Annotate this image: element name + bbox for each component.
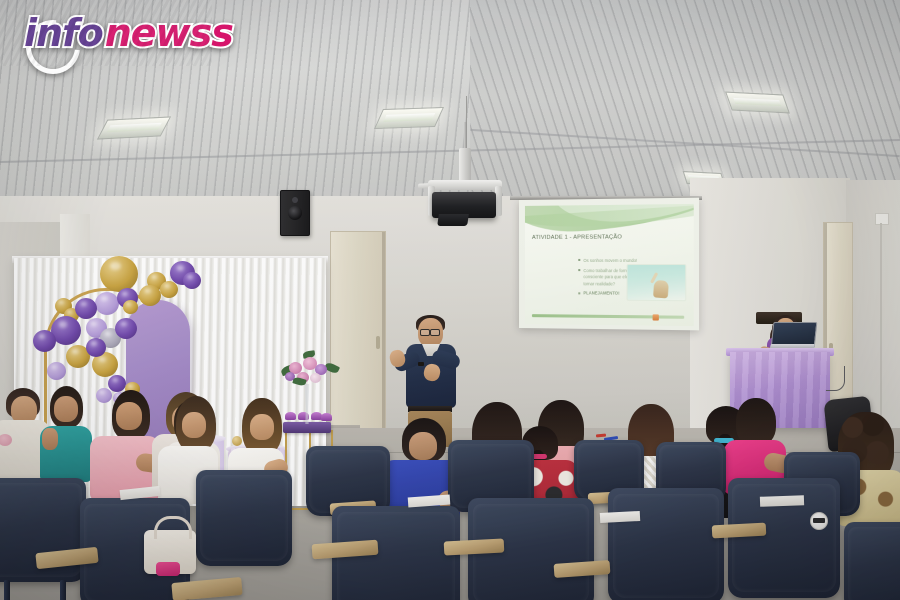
balloon-purple	[33, 330, 56, 352]
head	[409, 432, 437, 460]
chair-post	[60, 580, 66, 600]
projector-bracket-arm-right	[495, 186, 502, 216]
handbag-strap	[154, 516, 192, 539]
balloon-gold	[160, 281, 178, 298]
conduit-pipe	[880, 223, 882, 423]
lecture-chair[interactable]	[844, 522, 900, 600]
slide-progress-bar	[532, 314, 684, 319]
chair-rim	[200, 475, 288, 561]
lecture-chair[interactable]	[196, 470, 292, 566]
cupcake	[321, 413, 332, 421]
wall-speaker	[280, 190, 310, 236]
pink-item-on-floor	[156, 562, 180, 576]
chair-post	[4, 580, 10, 600]
presentation-slide: ATIVIDADE 1 - APRESENTAÇÃO Os sonhos mov…	[525, 204, 694, 326]
door-jamb	[382, 232, 385, 430]
watermark-text-newss: newss	[105, 14, 233, 52]
door-back-wall[interactable]	[330, 231, 386, 430]
notebook-on-arm	[600, 511, 640, 523]
balloon-lavender	[95, 292, 119, 315]
audience-left-3	[90, 390, 160, 500]
ceiling-light-left	[97, 116, 171, 139]
balloon-purple	[86, 338, 106, 357]
head	[54, 396, 78, 422]
head	[182, 412, 206, 438]
slide-progress-marker	[653, 314, 659, 320]
photo-scene: ATIVIDADE 1 - APRESENTAÇÃO Os sonhos mov…	[0, 0, 900, 600]
chair-inventory-sticker	[810, 512, 828, 530]
watermark-text-info: info	[24, 14, 103, 52]
rose-white	[310, 373, 321, 383]
slide-photo-figure	[653, 280, 669, 299]
balloon-gold	[100, 256, 138, 292]
sticker-barcode	[813, 518, 825, 523]
lecture-chair[interactable]	[608, 488, 724, 600]
balloon-purple	[75, 298, 97, 319]
balloon-lavender	[47, 362, 66, 380]
balloon-gold	[139, 285, 161, 306]
head	[250, 414, 274, 440]
balloon-purple	[183, 272, 201, 289]
light-tube	[384, 114, 435, 122]
glasses-icon	[420, 329, 440, 334]
speaker-tweeter	[292, 197, 298, 203]
chair-rim	[848, 527, 900, 600]
slide-photo	[627, 264, 687, 301]
ceiling-light-center	[374, 107, 444, 129]
chair-rim	[613, 494, 720, 598]
light-tube	[107, 123, 161, 132]
balloon-gold	[123, 300, 138, 314]
hair	[736, 398, 776, 446]
projector-bracket	[428, 180, 502, 190]
table-cable	[826, 366, 845, 391]
projection-screen: ATIVIDADE 1 - APRESENTAÇÃO Os sonhos mov…	[519, 198, 699, 331]
presenter-watch	[418, 362, 424, 366]
light-tube	[733, 98, 781, 106]
shoulder-skin	[42, 428, 58, 450]
speaker-cone	[288, 206, 302, 220]
door-handle[interactable]	[376, 336, 380, 349]
balloon-purple	[115, 318, 137, 339]
rose-bouquet	[279, 350, 341, 394]
ceiling-light-right-upper	[725, 92, 790, 114]
audience-left-2	[40, 386, 92, 482]
notebook-on-arm	[760, 495, 804, 507]
wall-switch-plate[interactable]	[875, 213, 889, 225]
infonewss-watermark: info newss	[12, 8, 249, 60]
projector-lens	[437, 214, 469, 226]
slide-title: ATIVIDADE 1 - APRESENTAÇÃO	[532, 234, 622, 241]
head	[116, 402, 142, 430]
